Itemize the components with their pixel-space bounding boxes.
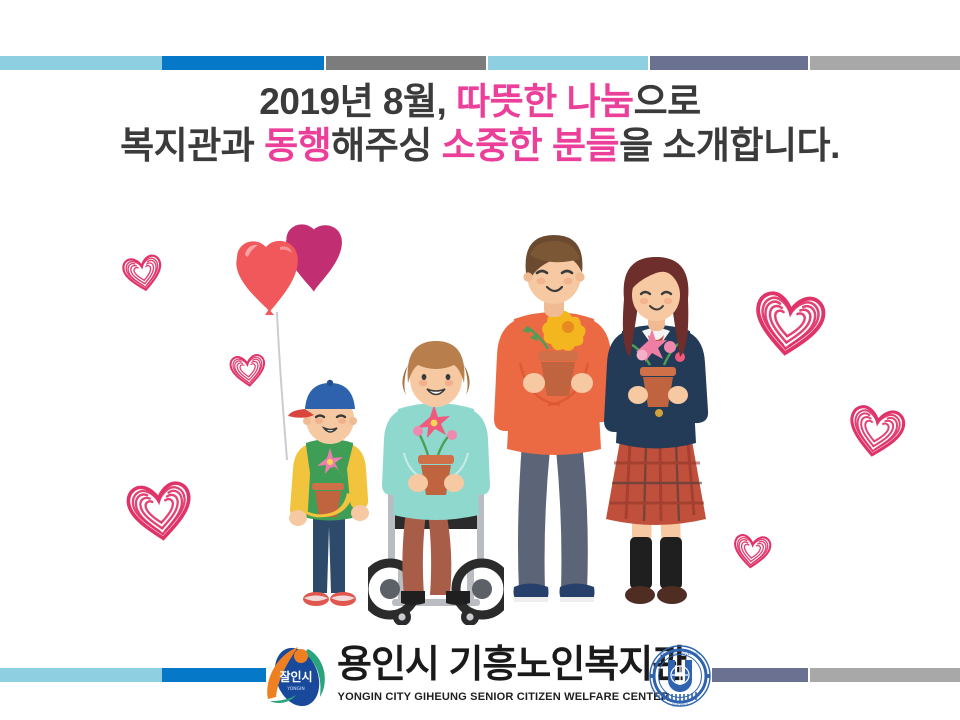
- page-title: 2019년 8월, 따뜻한 나눔으로 복지관과 동행해주싱 소중한 분들을 소개…: [0, 80, 960, 167]
- bottom-bar-segment-slate: [712, 668, 808, 682]
- svg-text:YONGIN: YONGIN: [286, 686, 305, 692]
- yongin-city-emblem-icon: 잘인시 YONGIN: [262, 643, 332, 709]
- university-seal-icon: DANKOOK UNIVERSITY 단국대학교: [647, 644, 713, 708]
- top-bar-segment-slate: [650, 56, 808, 70]
- family-illustration: [0, 195, 960, 640]
- sketched-heart-icon: [841, 398, 912, 465]
- title-line-2: 복지관과 동행해주싱 소중한 분들을 소개합니다.: [0, 124, 960, 168]
- sketched-heart-icon: [120, 474, 200, 549]
- title-line-1-segment-0: 2019년 8월,: [259, 81, 456, 122]
- top-bar-segment-light-blue: [0, 56, 162, 70]
- person-boy-with-balloon: [286, 355, 378, 623]
- svg-text:잘인시: 잘인시: [279, 669, 312, 684]
- logo-korean-name: 용인시 기흥노인복지관: [337, 641, 647, 689]
- sketched-heart-icon: [745, 283, 832, 365]
- person-woman-in-wheelchair: [368, 335, 504, 625]
- title-line-1-segment-2: 으로: [634, 81, 701, 122]
- top-bar-segment-blue: [162, 56, 324, 70]
- person-girl-in-school-uniform: [598, 255, 714, 623]
- title-line-2-segment-3: 소중한 분들: [442, 125, 619, 166]
- slide-canvas: 2019년 8월, 따뜻한 나눔으로 복지관과 동행해주싱 소중한 분들을 소개…: [0, 0, 960, 720]
- top-bar-segment-gray: [326, 56, 486, 70]
- organization-logo: 잘인시 YONGIN 용인시 기흥노인복지관 YONGIN CITY GIHEU…: [262, 641, 714, 717]
- svg-text:단국대학교: 단국대학교: [672, 702, 689, 707]
- svg-text:DANKOOK UNIVERSITY: DANKOOK UNIVERSITY: [660, 652, 701, 656]
- title-line-1: 2019년 8월, 따뜻한 나눔으로: [0, 80, 960, 124]
- bottom-bar-segment-light-gray: [810, 668, 960, 682]
- title-line-2-segment-1: 동행: [264, 125, 331, 166]
- title-line-2-segment-4: 을 소개합니다.: [619, 125, 840, 166]
- top-bar-segment-light-gray: [810, 56, 960, 70]
- bottom-bar-segment-blue: [162, 668, 266, 682]
- logo-english-name: YONGIN CITY GIHEUNG SENIOR CITIZEN WELFA…: [338, 691, 647, 703]
- sketched-heart-icon: [729, 530, 775, 573]
- title-line-2-segment-0: 복지관과: [120, 125, 264, 166]
- title-line-2-segment-2: 해주싱: [331, 125, 441, 166]
- sketched-heart-icon: [118, 249, 168, 296]
- top-decorative-bar: [0, 56, 960, 70]
- bottom-bar-segment-light-blue: [0, 668, 162, 682]
- plaid-skirt: [606, 441, 706, 525]
- coral-heart-balloon: [236, 241, 297, 315]
- top-bar-segment-light-blue: [488, 56, 648, 70]
- title-line-1-segment-1: 따뜻한 나눔: [456, 81, 633, 122]
